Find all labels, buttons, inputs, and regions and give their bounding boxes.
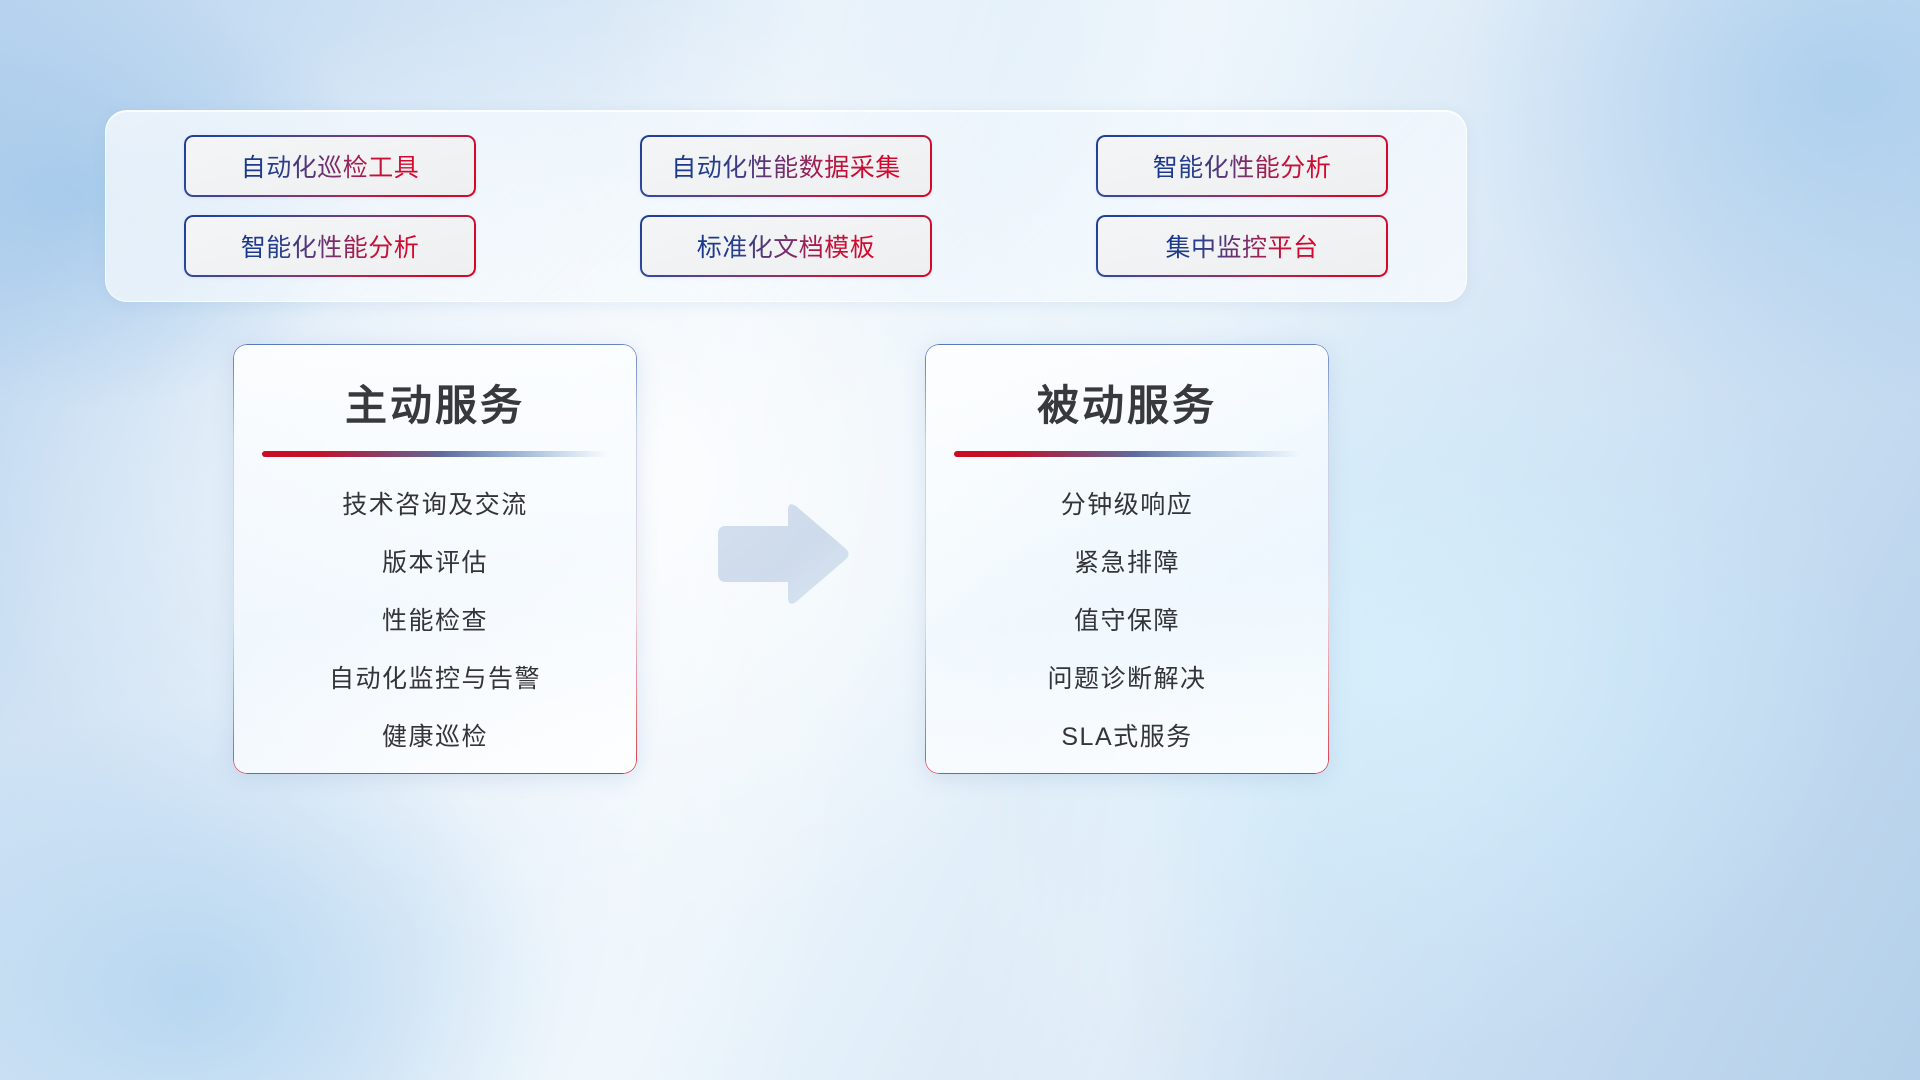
service-card-reactive: 被动服务 分钟级响应 紧急排障 值守保障 问题诊断解决 SLA式服务 <box>925 344 1329 774</box>
capabilities-banner: 自动化巡检工具 自动化性能数据采集 智能化性能分析 智能化性能分析 标准化文档模… <box>105 110 1467 302</box>
capability-row-2: 智能化性能分析 标准化文档模板 集中监控平台 <box>184 215 1388 277</box>
diagram-canvas: 自动化巡检工具 自动化性能数据采集 智能化性能分析 智能化性能分析 标准化文档模… <box>0 0 1920 1080</box>
card-title: 被动服务 <box>1037 372 1217 433</box>
capability-chip-label: 智能化性能分析 <box>1153 148 1332 184</box>
service-item: 问题诊断解决 <box>1047 659 1206 695</box>
capability-chip[interactable]: 自动化巡检工具 <box>184 135 476 197</box>
capability-chip[interactable]: 自动化性能数据采集 <box>640 135 932 197</box>
capability-chip-label: 自动化性能数据采集 <box>671 148 901 184</box>
service-item: 分钟级响应 <box>1061 485 1194 521</box>
capability-chip-label: 集中监控平台 <box>1165 228 1318 264</box>
capability-chip[interactable]: 智能化性能分析 <box>1096 135 1388 197</box>
service-card-proactive: 主动服务 技术咨询及交流 版本评估 性能检查 自动化监控与告警 健康巡检 <box>233 344 637 774</box>
card-title-underline <box>954 451 1300 457</box>
service-item: 技术咨询及交流 <box>342 485 528 521</box>
arrow-right-block-icon <box>712 500 852 608</box>
capability-chip-label: 智能化性能分析 <box>241 228 420 264</box>
service-item: 自动化监控与告警 <box>329 659 541 695</box>
service-item: 健康巡检 <box>382 717 488 753</box>
service-item: 性能检查 <box>382 601 488 637</box>
card-title: 主动服务 <box>345 372 525 433</box>
capability-chip[interactable]: 智能化性能分析 <box>184 215 476 277</box>
card-title-underline <box>262 451 608 457</box>
capability-row-1: 自动化巡检工具 自动化性能数据采集 智能化性能分析 <box>184 135 1388 197</box>
service-item: 值守保障 <box>1074 601 1180 637</box>
service-item-list: 技术咨询及交流 版本评估 性能检查 自动化监控与告警 健康巡检 <box>233 485 637 753</box>
capability-chip[interactable]: 集中监控平台 <box>1096 215 1388 277</box>
capability-chip-label: 标准化文档模板 <box>697 228 876 264</box>
service-item: 紧急排障 <box>1074 543 1180 579</box>
service-item: SLA式服务 <box>1061 717 1192 753</box>
service-item-list: 分钟级响应 紧急排障 值守保障 问题诊断解决 SLA式服务 <box>925 485 1329 753</box>
capability-chip[interactable]: 标准化文档模板 <box>640 215 932 277</box>
service-item: 版本评估 <box>382 543 488 579</box>
capability-chip-label: 自动化巡检工具 <box>241 148 420 184</box>
